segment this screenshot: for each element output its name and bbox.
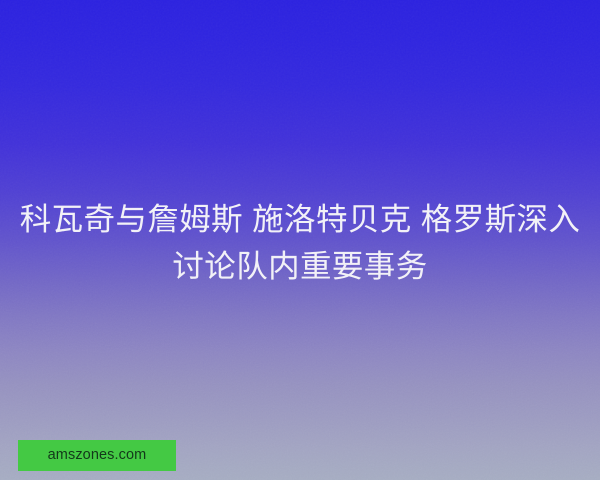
- headline: 科瓦奇与詹姆斯 施洛特贝克 格罗斯深入 讨论队内重要事务: [0, 196, 600, 290]
- watermark-label: amszones.com: [48, 448, 147, 463]
- image-card: 科瓦奇与詹姆斯 施洛特贝克 格罗斯深入 讨论队内重要事务 amszones.co…: [0, 0, 600, 480]
- watermark-badge: amszones.com: [18, 440, 176, 471]
- headline-line-2: 讨论队内重要事务: [18, 243, 582, 290]
- headline-line-1: 科瓦奇与詹姆斯 施洛特贝克 格罗斯深入: [18, 196, 582, 243]
